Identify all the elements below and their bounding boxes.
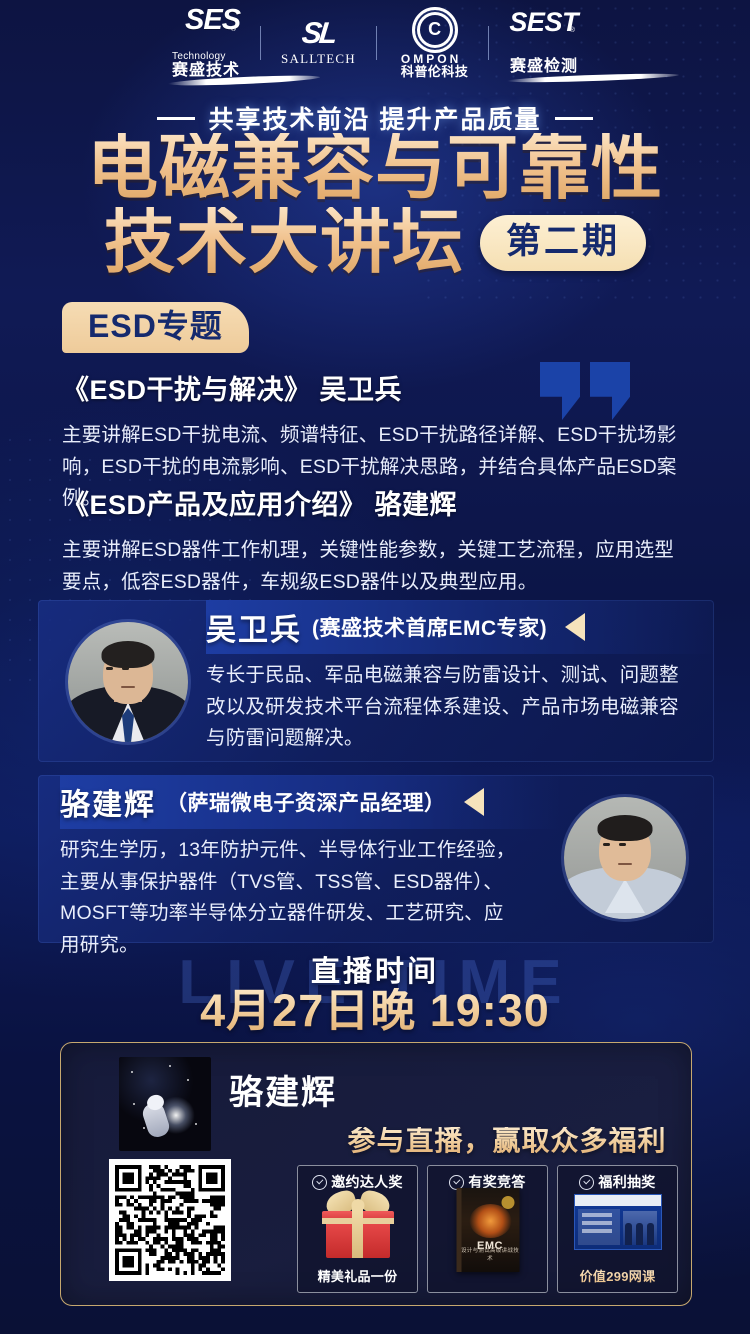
bottom-panel: 骆建辉 参与直播，赢取众多福利 邀约达人奖 精美礼品一份 [60,1042,692,1306]
hero-title-line-1: 电磁兼容与可靠性 [0,133,750,204]
sest-wordmark: SEST [509,10,578,36]
speaker-1-bio: 专长于民品、军品电磁兼容与防雷设计、测试、问题整改以及研发技术平台流程体系建设、… [206,660,696,755]
speaker-2-name-bar: 骆建辉 （萨瑞微电子资深产品经理） [60,775,560,829]
sest-chinese-label: 赛盛检测 [510,52,578,76]
session-1-title: 《ESD干扰与解决》 吴卫兵 [62,368,688,407]
prize-3-header: 福利抽奖 [579,1172,655,1192]
ses-chinese-label: 赛盛技术 [172,63,240,79]
prize-1-caption: 精美礼品一份 [298,1266,417,1285]
sponsor-logo-bar: SES ® Technology 赛盛技术 SL SALLTECH C OMPO… [0,0,750,86]
speaker-card-1: 吴卫兵 (赛盛技术首席EMC专家) 专长于民品、军品电磁兼容与防雷设计、测试、问… [38,600,714,762]
logo-ses-technology: SES ® Technology 赛盛技术 [172,7,240,79]
sest-registered-icon: ® [570,27,575,34]
check-circle-icon [579,1175,594,1190]
book-cover-icon: EMC 设计与测试高级讲战技术 [456,1188,519,1272]
gift-box-icon [320,1192,396,1258]
live-time-label: 直播时间 [0,948,750,990]
book-subtitle: 设计与测试高级讲战技术 [461,1246,519,1262]
contact-name: 骆建辉 [229,1065,337,1114]
session-2-title: 《ESD产品及应用介绍》 骆建辉 [62,483,688,522]
session-2-desc: 主要讲解ESD器件工作机理，关键性能参数，关键工艺流程，应用选型要点，低容ESD… [62,535,688,598]
speaker-1-role: (赛盛技术首席EMC专家) [312,612,547,642]
tagline-dash-left [157,117,195,120]
prize-list: 邀约达人奖 精美礼品一份 有奖竞答 EMC 设计与测试 [297,1165,679,1293]
prize-3-title: 福利抽奖 [598,1172,655,1192]
salltech-wordmark: SALLTECH [281,51,356,67]
logo-ompon: C OMPON 科普伦科技 [397,7,469,79]
bottom-slogan: 参与直播，赢取众多福利 [323,1127,691,1155]
logo-divider-1 [260,26,261,60]
speaker-2-name: 骆建辉 [60,780,156,824]
salltech-mark-icon: SL [301,19,336,49]
prize-1-header: 邀约达人奖 [312,1172,403,1192]
speaker-1-avatar [68,622,188,742]
ses-registered-icon: ® [231,26,236,33]
speaker-2-role: （萨瑞微电子资深产品经理） [166,787,446,817]
logo-sest: SEST ® 赛盛检测 [509,10,578,77]
term-badge: 第二期 [480,215,646,271]
nebula-thumbnail [119,1057,211,1151]
check-circle-icon [312,1175,327,1190]
hero-title-line-2: 技术大讲坛 [104,207,464,278]
ompon-chinese-label: 科普伦科技 [401,65,469,79]
speaker-2-pointer-icon [464,788,484,816]
logo-divider-2 [376,26,377,60]
topic-badge: ESD专题 [62,302,249,353]
tagline-dash-right [555,117,593,120]
speaker-2-bio: 研究生学历，13年防护元件、半导体行业工作经验，主要从事保护器件（TVS管、TS… [60,835,520,961]
prize-item-quiz: 有奖竞答 EMC 设计与测试高级讲战技术 [427,1165,548,1293]
online-course-thumbnail-icon [574,1194,662,1250]
poster-root: SES ® Technology 赛盛技术 SL SALLTECH C OMPO… [0,0,750,1334]
ses-english-label: Technology [172,52,240,62]
speaker-2-avatar [564,797,686,919]
speaker-1-name: 吴卫兵 [206,605,302,649]
live-time-value: 4月27日晚 19:30 [0,988,750,1033]
prize-item-invite: 邀约达人奖 精美礼品一份 [297,1165,418,1293]
speaker-1-name-bar: 吴卫兵 (赛盛技术首席EMC专家) [206,600,714,654]
hero-title-row-2: 技术大讲坛 第二期 [0,207,750,278]
qr-code[interactable] [109,1159,231,1281]
speaker-card-2: 骆建辉 （萨瑞微电子资深产品经理） 研究生学历，13年防护元件、半导体行业工作经… [38,775,714,943]
logo-salltech: SL SALLTECH [281,19,356,67]
logo-divider-3 [488,26,489,60]
session-2: 《ESD产品及应用介绍》 骆建辉 主要讲解ESD器件工作机理，关键性能参数，关键… [62,483,688,598]
prize-3-caption: 价值299网课 [558,1266,677,1285]
ompon-ring-icon: C [412,7,458,53]
prize-1-title: 邀约达人奖 [331,1172,403,1192]
speaker-1-pointer-icon [565,613,585,641]
prize-item-lottery: 福利抽奖 价值299网课 [557,1165,678,1293]
